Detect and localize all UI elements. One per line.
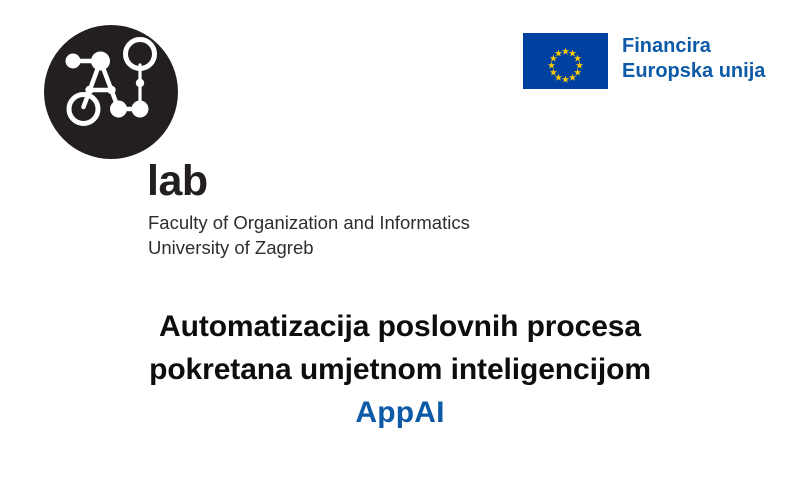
- affiliation-faculty: Faculty of Organization and Informatics: [148, 210, 470, 235]
- project-acronym: AppAI: [0, 391, 800, 434]
- presentation-slide: lab Faculty of Organization and Informat…: [0, 0, 800, 500]
- ai-lab-logo-block: lab Faculty of Organization and Informat…: [0, 0, 500, 270]
- project-title-line-2: pokretana umjetnom inteligencijom: [0, 348, 800, 391]
- eu-funding-badge: Financira Europska unija: [523, 33, 765, 89]
- eu-funding-text: Financira Europska unija: [622, 33, 765, 84]
- project-title-block: Automatizacija poslovnih procesa pokreta…: [0, 305, 800, 434]
- ai-lab-network-logo: [44, 25, 178, 159]
- lab-wordmark: lab: [147, 158, 208, 204]
- eu-text-line-2: Europska unija: [622, 59, 765, 84]
- project-title-line-1: Automatizacija poslovnih procesa: [0, 305, 800, 348]
- european-union-flag: [523, 33, 608, 89]
- eu-text-line-1: Financira: [622, 34, 765, 59]
- institution-affiliation: Faculty of Organization and Informatics …: [148, 210, 470, 260]
- affiliation-university: University of Zagreb: [148, 235, 470, 260]
